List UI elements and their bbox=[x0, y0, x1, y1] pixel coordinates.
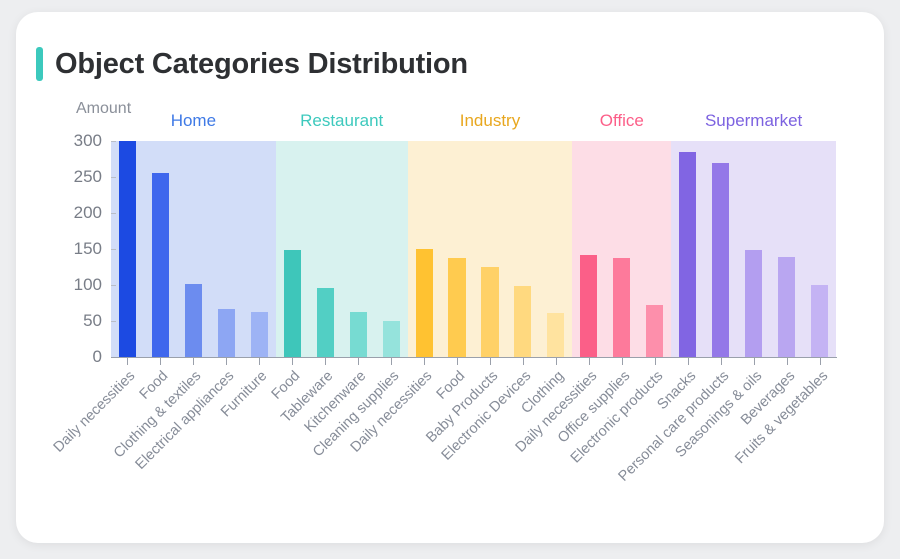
x-axis-line bbox=[111, 357, 837, 358]
bar[interactable] bbox=[547, 313, 564, 357]
x-tick-mark bbox=[127, 358, 128, 365]
y-tick-mark bbox=[111, 249, 116, 250]
x-tick-mark bbox=[259, 358, 260, 365]
bar[interactable] bbox=[284, 250, 301, 357]
group-label-restaurant: Restaurant bbox=[300, 111, 383, 131]
bar[interactable] bbox=[778, 257, 795, 357]
bar[interactable] bbox=[580, 255, 597, 357]
bar[interactable] bbox=[613, 258, 630, 357]
plot-area: HomeRestaurantIndustryOfficeSupermarket bbox=[111, 141, 836, 357]
bar[interactable] bbox=[712, 163, 729, 357]
y-tick-mark bbox=[111, 213, 116, 214]
x-tick-mark bbox=[325, 358, 326, 365]
group-label-office: Office bbox=[600, 111, 644, 131]
bar[interactable] bbox=[448, 258, 465, 357]
x-tick-mark bbox=[754, 358, 755, 365]
bar[interactable] bbox=[481, 267, 498, 357]
bar[interactable] bbox=[218, 309, 235, 357]
bar[interactable] bbox=[317, 288, 334, 357]
y-tick-label: 0 bbox=[93, 347, 102, 367]
x-tick-mark bbox=[556, 358, 557, 365]
x-tick-mark bbox=[490, 358, 491, 365]
chart-card: Object Categories Distribution Amount 05… bbox=[16, 12, 884, 543]
y-tick-label: 300 bbox=[74, 131, 102, 151]
bar[interactable] bbox=[646, 305, 663, 357]
y-tick-mark bbox=[111, 141, 116, 142]
y-tick-mark bbox=[111, 321, 116, 322]
bar[interactable] bbox=[514, 286, 531, 357]
group-label-home: Home bbox=[171, 111, 216, 131]
x-tick-mark bbox=[622, 358, 623, 365]
bar[interactable] bbox=[679, 152, 696, 357]
bar[interactable] bbox=[350, 312, 367, 357]
title-text: Object Categories Distribution bbox=[55, 48, 468, 81]
group-label-industry: Industry bbox=[460, 111, 520, 131]
x-tick-mark bbox=[292, 358, 293, 365]
x-tick-mark bbox=[523, 358, 524, 365]
bar[interactable] bbox=[745, 250, 762, 357]
x-tick-mark bbox=[457, 358, 458, 365]
y-tick-label: 150 bbox=[74, 239, 102, 259]
x-tick-mark bbox=[358, 358, 359, 365]
title-accent-bar bbox=[36, 47, 43, 81]
bar[interactable] bbox=[119, 141, 136, 357]
y-tick-label: 100 bbox=[74, 275, 102, 295]
y-tick-label: 200 bbox=[74, 203, 102, 223]
x-tick-mark bbox=[193, 358, 194, 365]
bar[interactable] bbox=[416, 249, 433, 357]
y-tick-label: 250 bbox=[74, 167, 102, 187]
x-tick-mark bbox=[424, 358, 425, 365]
x-tick-mark bbox=[721, 358, 722, 365]
bar[interactable] bbox=[811, 285, 828, 357]
bar[interactable] bbox=[251, 312, 268, 357]
x-tick-mark bbox=[655, 358, 656, 365]
x-tick-mark bbox=[820, 358, 821, 365]
x-tick-mark bbox=[589, 358, 590, 365]
group-label-supermarket: Supermarket bbox=[705, 111, 802, 131]
x-tick-mark bbox=[391, 358, 392, 365]
y-tick-mark bbox=[111, 285, 116, 286]
x-tick-mark bbox=[160, 358, 161, 365]
x-tick-mark bbox=[226, 358, 227, 365]
bar[interactable] bbox=[152, 173, 169, 357]
x-tick-mark bbox=[787, 358, 788, 365]
bar[interactable] bbox=[185, 284, 202, 357]
y-tick-mark bbox=[111, 177, 116, 178]
bar[interactable] bbox=[383, 321, 400, 357]
x-tick-mark bbox=[688, 358, 689, 365]
y-tick-label: 50 bbox=[83, 311, 102, 331]
